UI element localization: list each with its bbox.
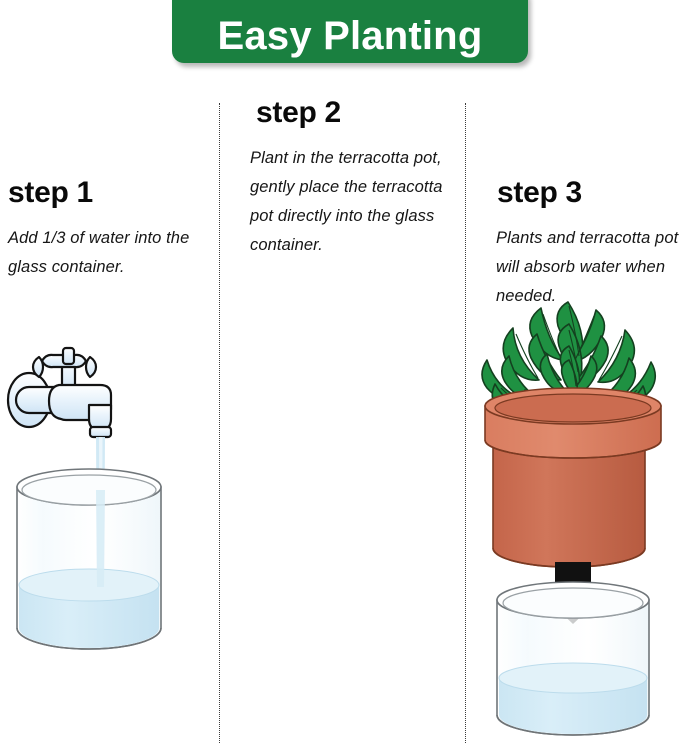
- faucet-icon: [8, 348, 111, 437]
- step-column-2: step 2 Plant in the terracotta pot, gent…: [219, 0, 465, 743]
- step-1-illustration: [2, 345, 202, 675]
- step-column-3: step 3 Plants and terracotta pot will ab…: [465, 0, 679, 743]
- step-3-body: Plants and terracotta pot will absorb wa…: [496, 224, 679, 311]
- step-2-heading: step 2: [256, 96, 341, 130]
- step-2-body: Plant in the terracotta pot, gently plac…: [250, 144, 455, 260]
- step-1-body: Add 1/3 of water into the glass containe…: [8, 224, 208, 282]
- step-3-heading: step 3: [497, 176, 582, 210]
- easy-planting-infographic: Easy Planting step 1 Add 1/3 of water in…: [0, 0, 679, 743]
- step-1-heading: step 1: [8, 176, 93, 210]
- step-column-1: step 1 Add 1/3 of water into the glass c…: [0, 0, 219, 743]
- glass-container: [17, 469, 161, 649]
